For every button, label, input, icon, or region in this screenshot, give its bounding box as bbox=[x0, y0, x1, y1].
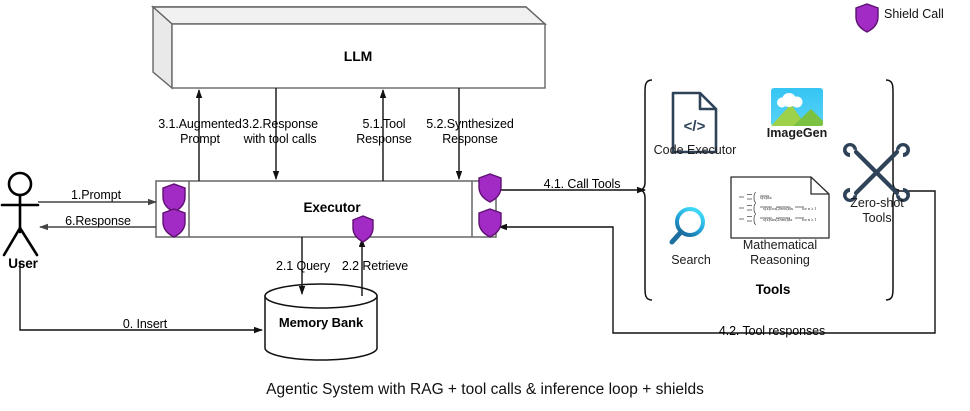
edge-label-prompt: 1.Prompt bbox=[36, 188, 156, 203]
edge-label-response: 6.Response bbox=[36, 214, 160, 229]
diagram-caption: Agentic System with RAG + tool calls & i… bbox=[0, 381, 970, 399]
tool-label-imagegen: ImageGen bbox=[757, 126, 837, 141]
tools-right-brace bbox=[886, 80, 899, 300]
shield-icon-toolresp-in bbox=[479, 209, 501, 237]
memory-bank-label: Memory Bank bbox=[261, 315, 381, 330]
tool-label-zero-shot-tools: Zero-shot Tools bbox=[836, 196, 918, 226]
shield-call-legend-label: Shield Call bbox=[884, 7, 944, 21]
tools-group-label: Tools bbox=[723, 282, 823, 298]
svg-text:</>: </> bbox=[684, 118, 706, 135]
edge-label-retrieve: 2.2 Retrieve bbox=[320, 259, 430, 274]
tool-label-code-executor: Code Executor bbox=[646, 143, 744, 158]
svg-text:for n ≥ 1: for n ≥ 1 bbox=[802, 206, 817, 211]
user-actor-icon bbox=[2, 173, 38, 255]
diagram-canvas: </> bbox=[0, 0, 970, 411]
math-document-icon: s(x)dx s(x)cos(2πnx)dx for n ≥ 1 s(x)sin… bbox=[731, 177, 829, 238]
diagram-vector-layer: </> bbox=[0, 0, 970, 411]
shield-icon-toolcall-out bbox=[479, 174, 501, 202]
llm-label: LLM bbox=[298, 48, 418, 65]
svg-text:s(x)cos(2πnx)dx: s(x)cos(2πnx)dx bbox=[763, 206, 794, 211]
crossed-wrenches-icon bbox=[843, 143, 910, 202]
svg-text:s(x)dx: s(x)dx bbox=[760, 195, 772, 200]
edge-label-call-tools: 4.1. Call Tools bbox=[522, 177, 642, 192]
edge-label-tool-responses: 4.2. Tool responses bbox=[662, 324, 882, 339]
executor-label: Executor bbox=[272, 200, 392, 216]
magnifier-icon bbox=[672, 209, 703, 242]
shield-icon-executor-out bbox=[163, 209, 185, 237]
user-label: User bbox=[0, 256, 46, 272]
shield-icon-legend bbox=[856, 4, 878, 32]
shield-icon-executor-in bbox=[163, 184, 185, 212]
tool-label-math-reasoning: Mathematical Reasoning bbox=[722, 238, 838, 268]
image-generation-icon bbox=[771, 88, 828, 126]
edge-label-synthesized-response: 5.2.Synthesized Response bbox=[406, 117, 534, 147]
edge-label-response-toolcalls: 3.2.Response with tool calls bbox=[219, 117, 341, 147]
svg-text:s(x)sin(2πnx)dx: s(x)sin(2πnx)dx bbox=[763, 217, 793, 222]
shield-icon-memory bbox=[353, 216, 373, 242]
edge-label-insert: 0. Insert bbox=[55, 317, 235, 332]
svg-text:for n ≥ 1: for n ≥ 1 bbox=[802, 217, 817, 222]
tool-label-search: Search bbox=[658, 253, 724, 268]
